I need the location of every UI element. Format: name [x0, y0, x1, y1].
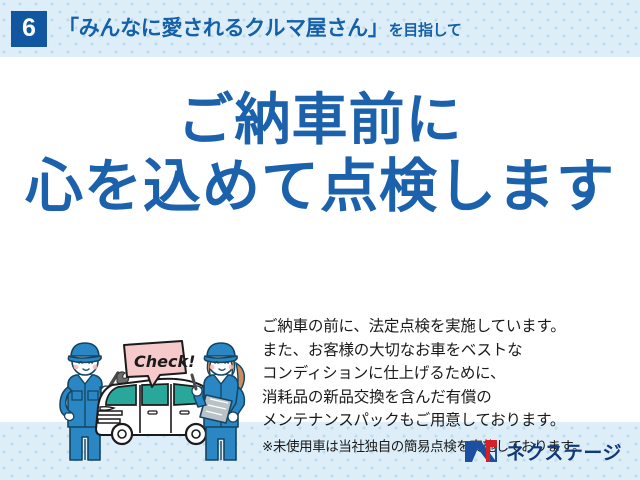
content-panel: ご納車前に 心を込めて点検します — [0, 57, 640, 422]
advertisement-page: 6 「みんなに愛されるクルマ屋さん」 を目指して ご納車前に 心を込めて点検しま… — [0, 0, 640, 480]
brand-name-text: ネクステージ — [506, 438, 622, 465]
copy-line-1: ご納車の前に、法定点検を実施しています。 — [262, 315, 634, 339]
headline-line-1: ご納車前に — [0, 87, 640, 153]
copy-line-4: 消耗品の新品交換を含んだ有償の — [262, 386, 634, 410]
footer-bar: ネクステージ — [0, 422, 640, 480]
header-title-suffix: を目指して — [389, 23, 462, 38]
header-bar: 6 「みんなに愛されるクルマ屋さん」 を目指して — [0, 0, 640, 57]
step-number-badge: 6 — [11, 11, 47, 47]
header-title: 「みんなに愛されるクルマ屋さん」 を目指して — [58, 18, 462, 39]
headline-line-2: 心を込めて点検します — [0, 153, 640, 221]
headline-block: ご納車前に 心を込めて点検します — [0, 87, 640, 222]
header-title-quoted: 「みんなに愛されるクルマ屋さん」 — [58, 18, 389, 39]
brand-logo: ネクステージ — [464, 438, 622, 465]
copy-line-3: コンディションに仕上げるために、 — [262, 362, 634, 386]
clipboard-icon — [200, 395, 232, 423]
nexstage-n-mark-icon — [464, 438, 498, 464]
speech-bubble-text: Check! — [134, 352, 195, 371]
copy-line-2: また、お客様の大切なお車をベストな — [262, 339, 634, 363]
